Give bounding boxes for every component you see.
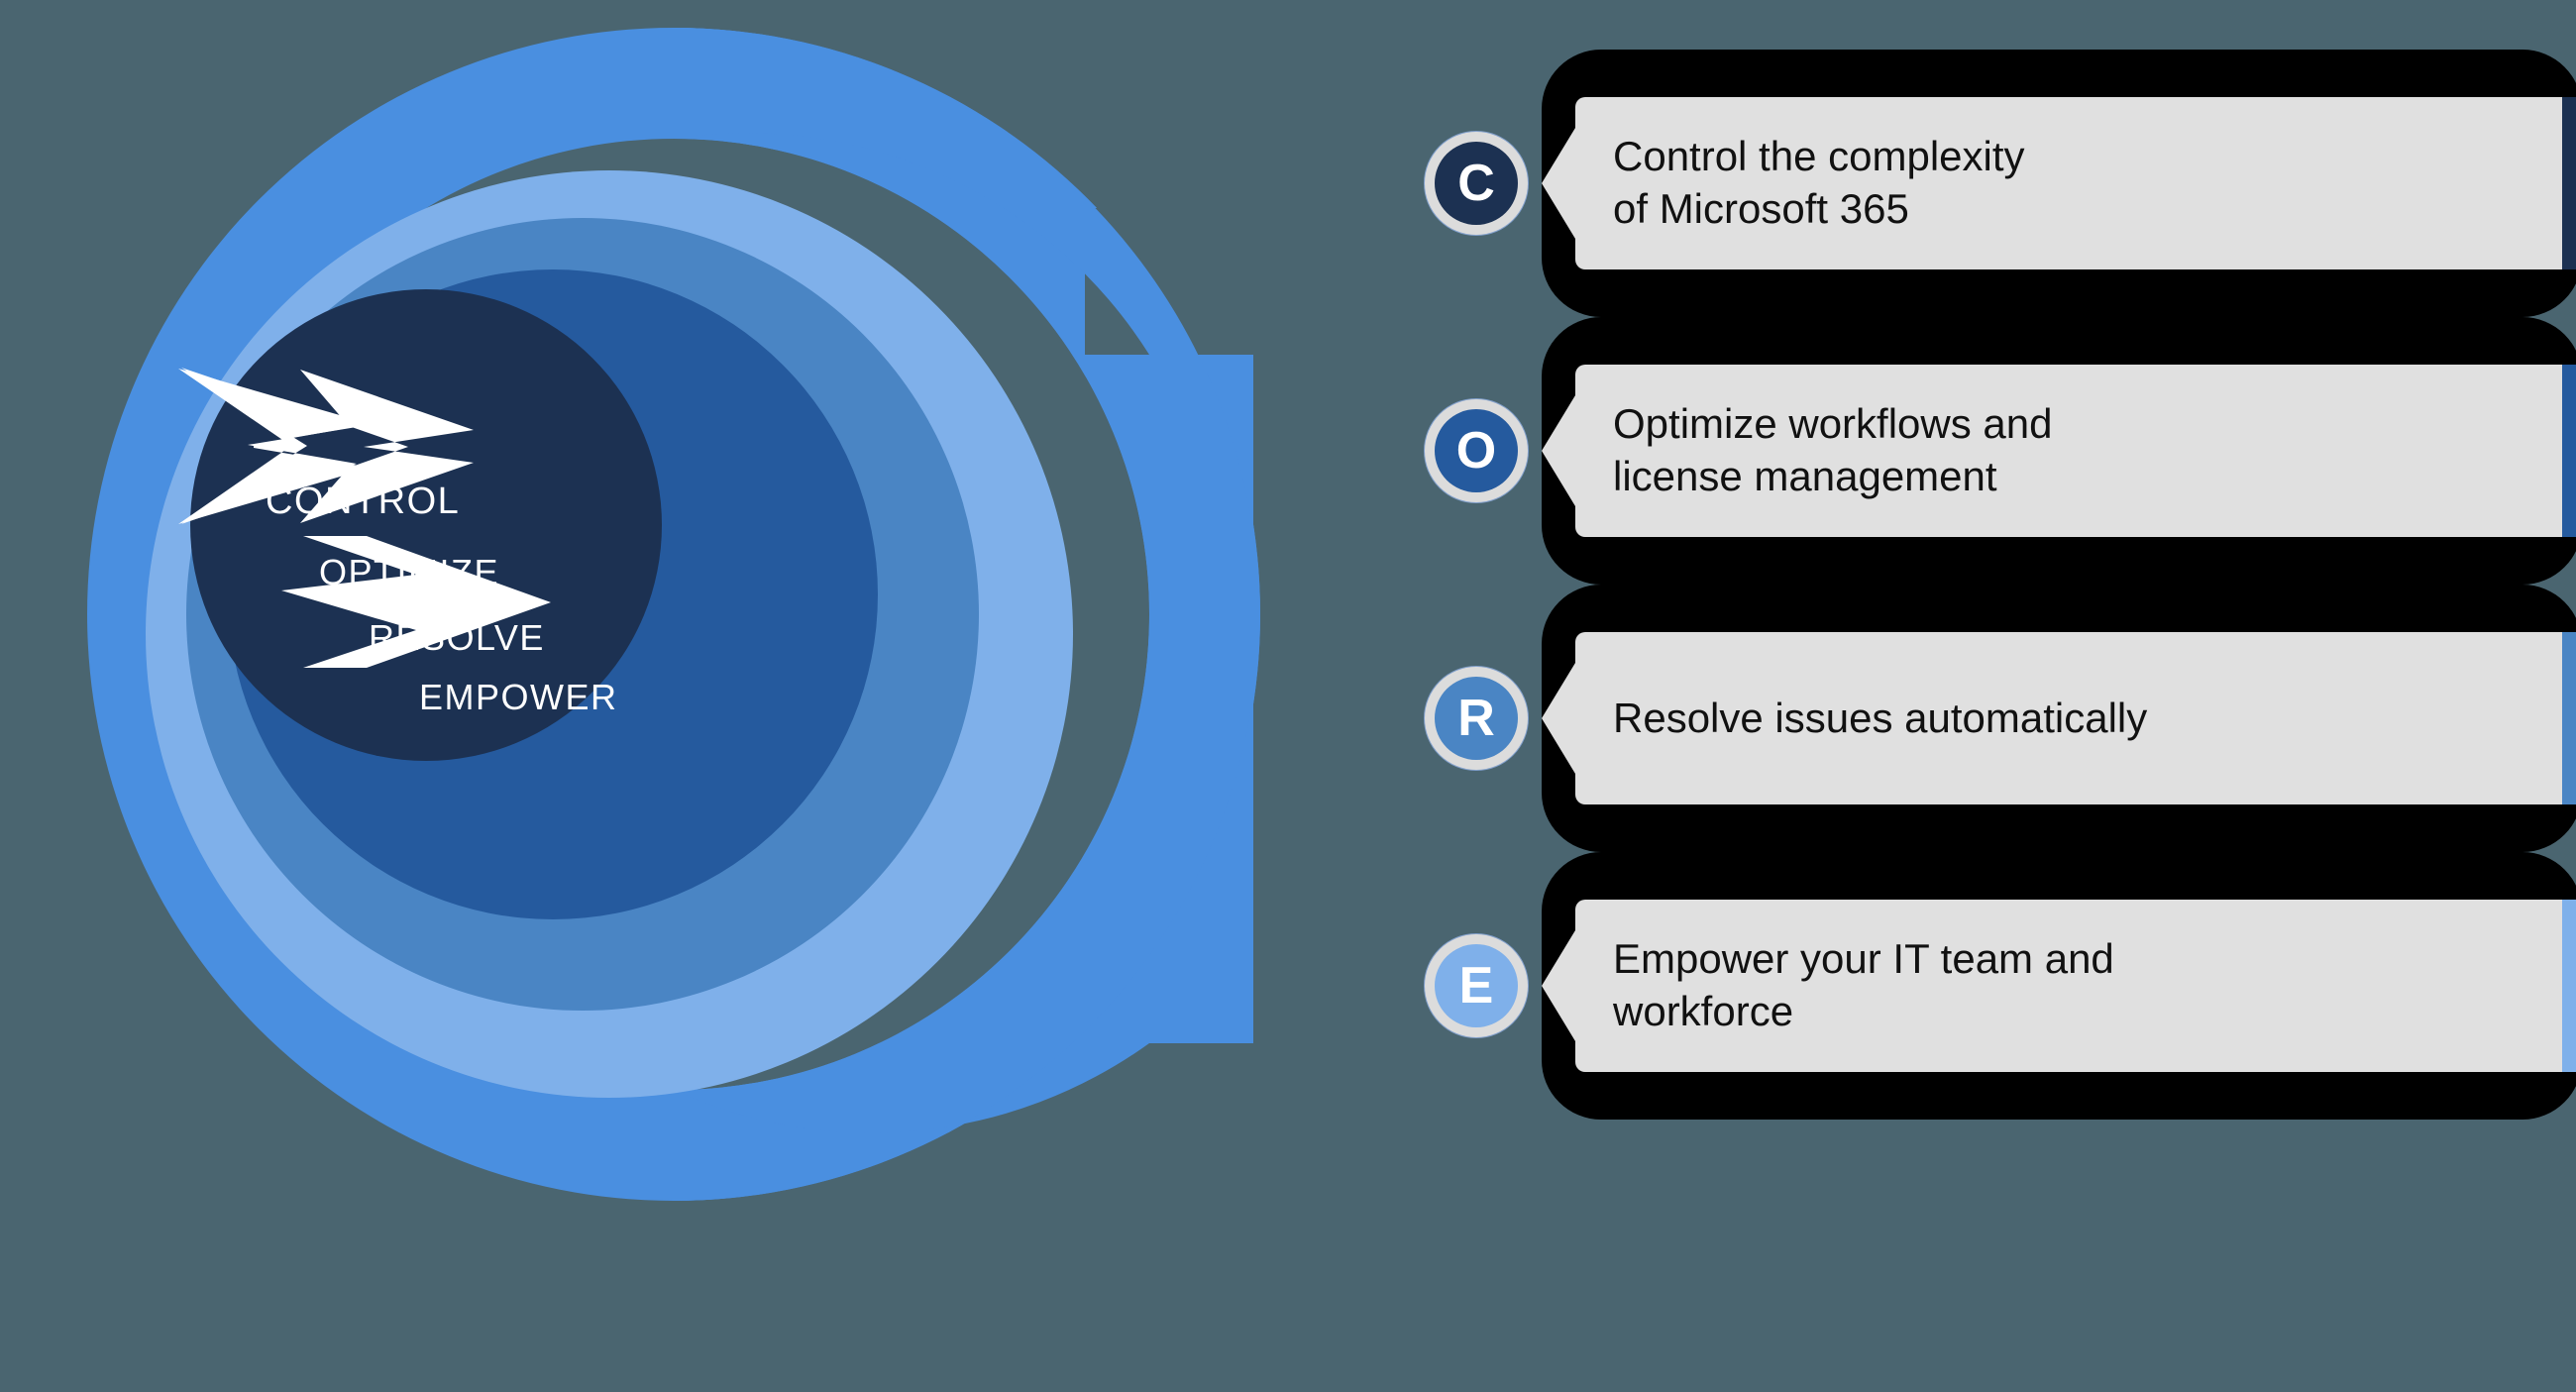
benefit-card-empower[interactable]: E Empower your IT team and workforce xyxy=(1407,852,2576,1120)
bubble-text-empower: Empower your IT team and workforce xyxy=(1575,933,2154,1038)
badge-o[interactable]: O xyxy=(1425,399,1528,502)
bubble-area-optimize: Optimize workflows and license managemen… xyxy=(1542,317,2576,585)
bubble-text-control: Control the complexity of Microsoft 365 xyxy=(1575,131,2065,236)
badge-e-letter: E xyxy=(1459,960,1494,1012)
spiral-graphic: CONTROL OPTIMIZE RESOLVE EMPOWER xyxy=(0,0,1347,1392)
ring-label-empower: EMPOWER xyxy=(419,677,618,717)
bubble-area-resolve: Resolve issues automatically xyxy=(1542,585,2576,852)
badge-r-letter: R xyxy=(1457,693,1495,744)
benefit-card-resolve[interactable]: R Resolve issues automatically xyxy=(1407,585,2576,852)
bubble-area-control: Control the complexity of Microsoft 365 xyxy=(1542,50,2576,317)
ring-label-resolve: RESOLVE xyxy=(369,617,545,658)
badge-r[interactable]: R xyxy=(1425,667,1528,770)
bubble-accent-cap xyxy=(2562,365,2576,537)
ring-label-optimize: OPTIMIZE xyxy=(319,552,499,592)
speech-bubble-empower[interactable]: Empower your IT team and workforce xyxy=(1575,900,2566,1072)
badge-c-inner: C xyxy=(1435,142,1518,225)
bubble-area-empower: Empower your IT team and workforce xyxy=(1542,852,2576,1120)
bubble-accent-cap xyxy=(2562,632,2576,804)
badge-e[interactable]: E xyxy=(1425,934,1528,1037)
bubble-text-resolve: Resolve issues automatically xyxy=(1575,693,2187,745)
speech-bubble-resolve[interactable]: Resolve issues automatically xyxy=(1575,632,2566,804)
benefit-card-list: C Control the complexity of Microsoft 36… xyxy=(1407,0,2576,1392)
badge-c-letter: C xyxy=(1457,158,1495,209)
spiral-svg: CONTROL OPTIMIZE RESOLVE EMPOWER xyxy=(0,0,1347,1392)
core-framework-diagram: CONTROL OPTIMIZE RESOLVE EMPOWER C Contr… xyxy=(0,0,2576,1392)
ring-label-control: CONTROL xyxy=(266,481,460,522)
speech-bubble-control[interactable]: Control the complexity of Microsoft 365 xyxy=(1575,97,2566,269)
benefit-card-optimize[interactable]: O Optimize workflows and license managem… xyxy=(1407,317,2576,585)
badge-r-inner: R xyxy=(1435,677,1518,760)
badge-o-letter: O xyxy=(1456,425,1496,477)
speech-bubble-optimize[interactable]: Optimize workflows and license managemen… xyxy=(1575,365,2566,537)
badge-e-inner: E xyxy=(1435,944,1518,1027)
badge-o-inner: O xyxy=(1435,409,1518,492)
bubble-accent-cap xyxy=(2562,900,2576,1072)
benefit-card-control[interactable]: C Control the complexity of Microsoft 36… xyxy=(1407,50,2576,317)
badge-c[interactable]: C xyxy=(1425,132,1528,235)
bubble-text-optimize: Optimize workflows and license managemen… xyxy=(1575,398,2092,503)
bubble-accent-cap xyxy=(2562,97,2576,269)
